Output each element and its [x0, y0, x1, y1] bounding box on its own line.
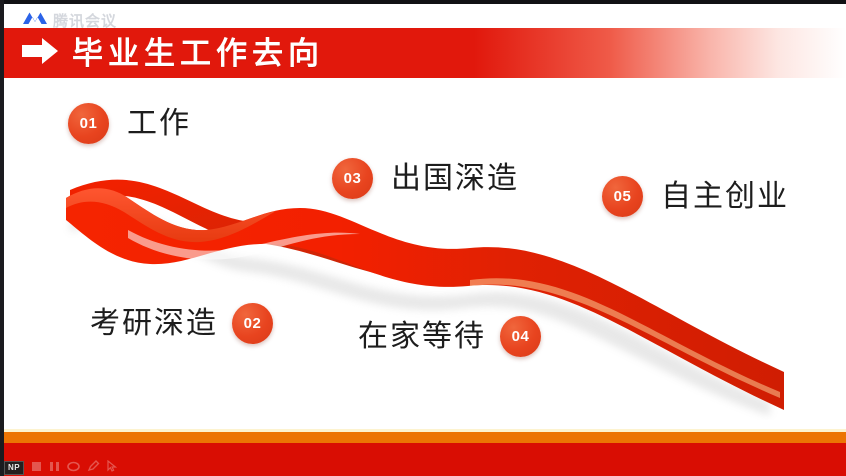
number-badge-03: 03: [332, 158, 373, 199]
list-item-04[interactable]: 04 在家等待: [358, 316, 541, 357]
tencent-meeting-logo-icon: [22, 11, 48, 30]
stop-icon[interactable]: [31, 459, 42, 476]
arrow-right-icon: [20, 36, 60, 71]
link-icon[interactable]: [67, 459, 80, 476]
app-logo: 腾讯会议: [22, 10, 117, 31]
window-top-edge: [0, 0, 846, 4]
footer-bar: [0, 443, 846, 476]
list-item-label-03: 出国深造: [391, 164, 519, 194]
annotation-toolbar[interactable]: NP: [4, 459, 117, 476]
list-item-label-04: 在家等待: [358, 322, 486, 352]
pause-icon[interactable]: [49, 459, 60, 476]
recording-badge: NP: [4, 461, 24, 475]
list-item-05[interactable]: 05 自主创业: [602, 176, 789, 217]
list-item-03[interactable]: 03 出国深造: [332, 158, 519, 199]
app-logo-label: 腾讯会议: [53, 10, 117, 31]
window-left-edge: [0, 0, 4, 476]
list-item-label-01: 工作: [127, 109, 191, 139]
page-title: 毕业生工作去向: [72, 38, 324, 69]
number-badge-04: 04: [500, 316, 541, 357]
number-badge-02: 02: [232, 303, 273, 344]
number-badge-05: 05: [602, 176, 643, 217]
list-item-label-05: 自主创业: [661, 182, 789, 212]
number-badge-01: 01: [68, 103, 109, 144]
cursor-icon[interactable]: [107, 459, 117, 476]
list-item-01[interactable]: 01 工作: [68, 103, 191, 144]
list-item-02[interactable]: 02 考研深造: [90, 303, 273, 344]
presentation-slide: 腾讯会议 毕业生工作去向: [0, 0, 846, 476]
pen-icon[interactable]: [87, 459, 100, 476]
title-banner-content: 毕业生工作去向: [20, 28, 324, 78]
footer-accent-bar: [0, 432, 846, 443]
list-item-label-02: 考研深造: [90, 309, 218, 339]
